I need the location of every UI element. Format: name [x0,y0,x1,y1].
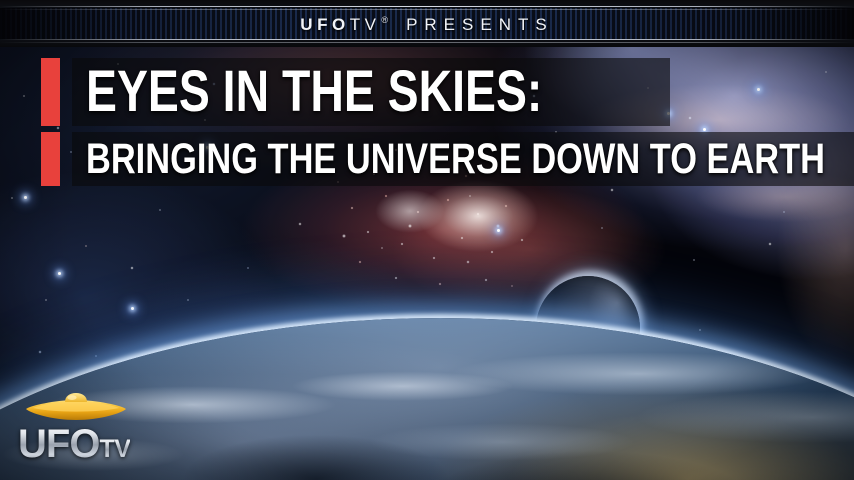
logo-ufo-text: UFO [18,422,99,466]
subtitle-plate: BRINGING THE UNIVERSE DOWN TO EARTH [72,132,854,186]
bright-star [131,307,134,310]
main-title-row: EYES IN THE SKIES: [0,58,854,126]
bright-star [497,229,500,232]
ufotv-wordmark: UFOTV [18,424,138,464]
bright-star [24,196,27,199]
accent-bar-subtitle [41,132,60,186]
banner-brand-tv: TV [350,16,381,33]
accent-bar-main [41,58,60,126]
presents-banner: UFO TV ® PRESENTS [0,0,854,47]
ufotv-logo: UFOTV [18,392,138,468]
banner-text: UFO TV ® PRESENTS [0,0,854,47]
main-title-plate: EYES IN THE SKIES: [72,58,670,126]
page-subtitle: BRINGING THE UNIVERSE DOWN TO EARTH [86,138,825,181]
logo-tv-text: TV [99,435,130,463]
registered-mark-icon: ® [381,16,388,25]
ufo-saucer-icon [24,392,128,426]
title-block: EYES IN THE SKIES: BRINGING THE UNIVERSE… [0,58,854,186]
banner-presents-label: PRESENTS [406,16,554,33]
bright-star [58,272,61,275]
banner-brand-ufo: UFO [300,16,349,33]
video-title-card: UFO TV ® PRESENTS EYES IN THE SKIES: BRI… [0,0,854,480]
page-title: EYES IN THE SKIES: [86,63,542,121]
subtitle-row: BRINGING THE UNIVERSE DOWN TO EARTH [0,132,854,186]
